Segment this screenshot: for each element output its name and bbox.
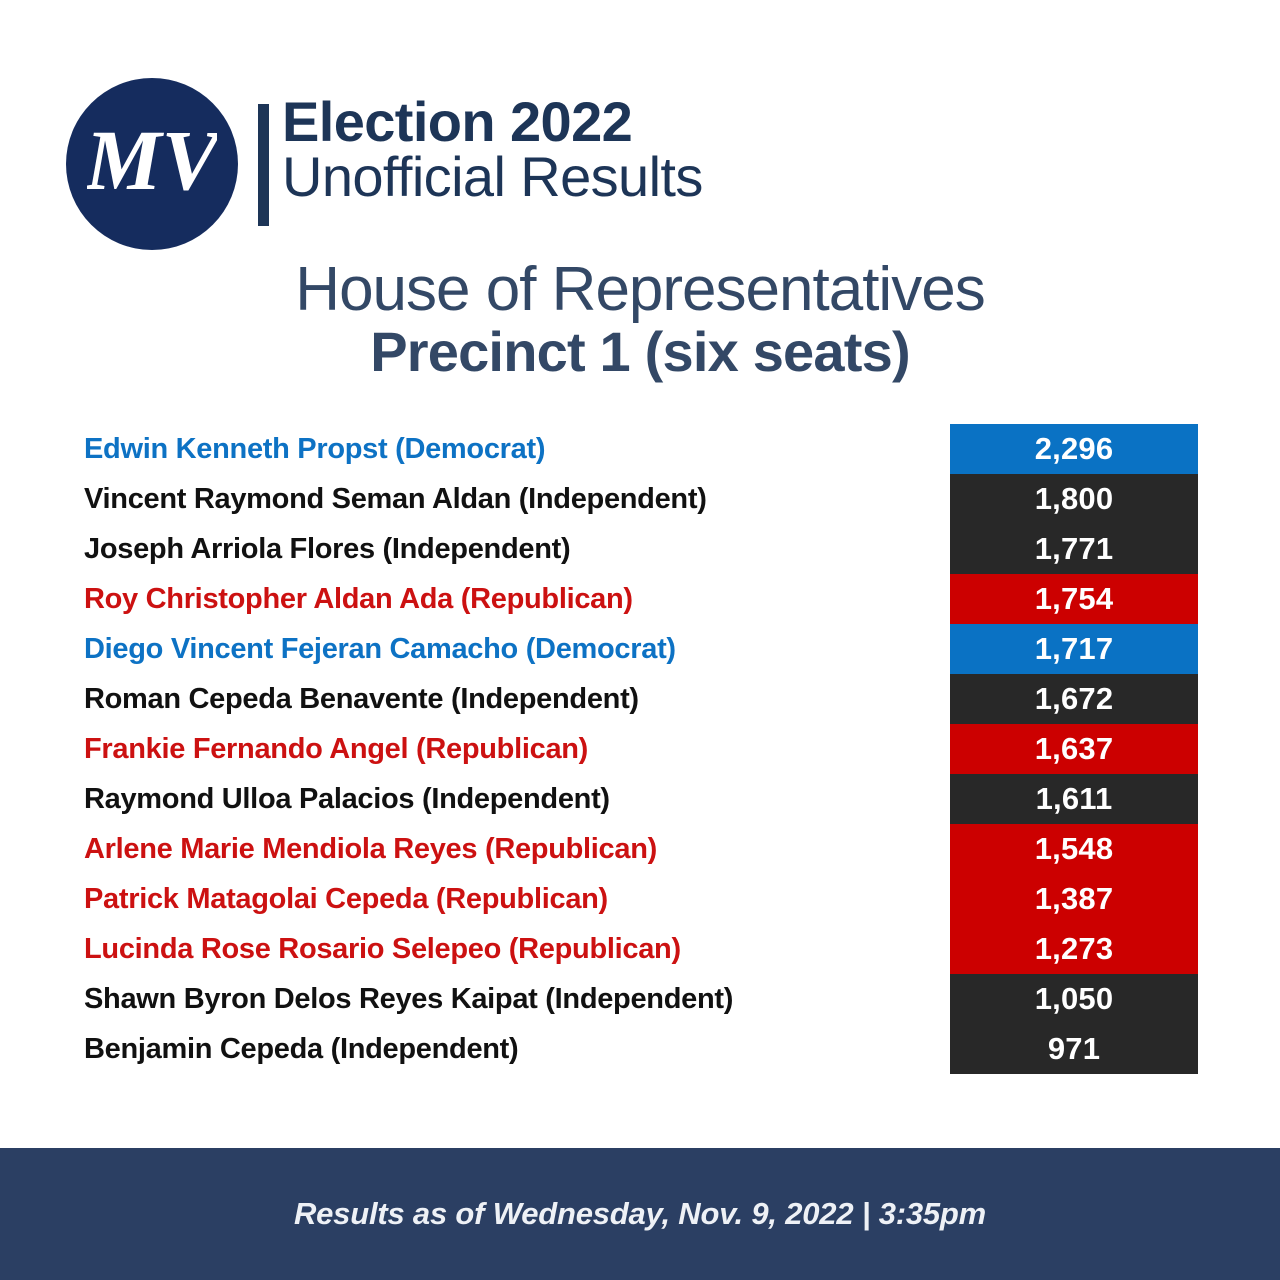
- candidate-name: Patrick Matagolai Cepeda (Republican): [84, 874, 934, 924]
- brand-wordmark: Election 2022 Unofficial Results: [282, 94, 703, 205]
- candidate-vote-count: 1,771: [950, 524, 1198, 574]
- results-table: Edwin Kenneth Propst (Democrat)Vincent R…: [0, 424, 1280, 1074]
- brand-line-election-2022: Election 2022: [282, 94, 703, 149]
- title-office: House of Representatives: [0, 258, 1280, 321]
- candidate-name: Roy Christopher Aldan Ada (Republican): [84, 574, 934, 624]
- candidate-name: Joseph Arriola Flores (Independent): [84, 524, 934, 574]
- candidate-name: Benjamin Cepeda (Independent): [84, 1024, 934, 1074]
- candidate-vote-count: 1,611: [950, 774, 1198, 824]
- candidate-name: Diego Vincent Fejeran Camacho (Democrat): [84, 624, 934, 674]
- candidate-vote-count: 1,754: [950, 574, 1198, 624]
- candidate-vote-count: 1,050: [950, 974, 1198, 1024]
- candidate-name: Raymond Ulloa Palacios (Independent): [84, 774, 934, 824]
- candidate-vote-count: 971: [950, 1024, 1198, 1074]
- candidate-name: Lucinda Rose Rosario Selepeo (Republican…: [84, 924, 934, 974]
- candidate-name: Arlene Marie Mendiola Reyes (Republican): [84, 824, 934, 874]
- footer-bar: Results as of Wednesday, Nov. 9, 2022 | …: [0, 1148, 1280, 1280]
- candidate-vote-count: 1,637: [950, 724, 1198, 774]
- title-precinct: Precinct 1 (six seats): [0, 323, 1280, 380]
- results-timestamp: Results as of Wednesday, Nov. 9, 2022 | …: [294, 1196, 986, 1232]
- candidate-name: Roman Cepeda Benavente (Independent): [84, 674, 934, 724]
- svg-text:MV: MV: [87, 112, 217, 208]
- candidate-name: Edwin Kenneth Propst (Democrat): [84, 424, 934, 474]
- candidate-vote-count: 1,548: [950, 824, 1198, 874]
- candidate-vote-count: 2,296: [950, 424, 1198, 474]
- candidate-vote-count: 1,717: [950, 624, 1198, 674]
- page-title: House of Representatives Precinct 1 (six…: [0, 258, 1280, 380]
- candidate-name: Vincent Raymond Seman Aldan (Independent…: [84, 474, 934, 524]
- mv-monogram-logo-icon: MV: [66, 78, 238, 250]
- brand-line-unofficial-results: Unofficial Results: [282, 149, 703, 204]
- brand-divider: [258, 104, 269, 226]
- candidate-names-column: Edwin Kenneth Propst (Democrat)Vincent R…: [84, 424, 934, 1074]
- candidate-vote-count: 1,672: [950, 674, 1198, 724]
- candidate-vote-count: 1,273: [950, 924, 1198, 974]
- candidate-vote-count: 1,800: [950, 474, 1198, 524]
- candidate-name: Shawn Byron Delos Reyes Kaipat (Independ…: [84, 974, 934, 1024]
- candidate-name: Frankie Fernando Angel (Republican): [84, 724, 934, 774]
- candidate-vote-count: 1,387: [950, 874, 1198, 924]
- brand-header: MV Election 2022 Unofficial Results: [66, 78, 1166, 253]
- vote-counts-column: 2,2961,8001,7711,7541,7171,6721,6371,611…: [950, 424, 1198, 1074]
